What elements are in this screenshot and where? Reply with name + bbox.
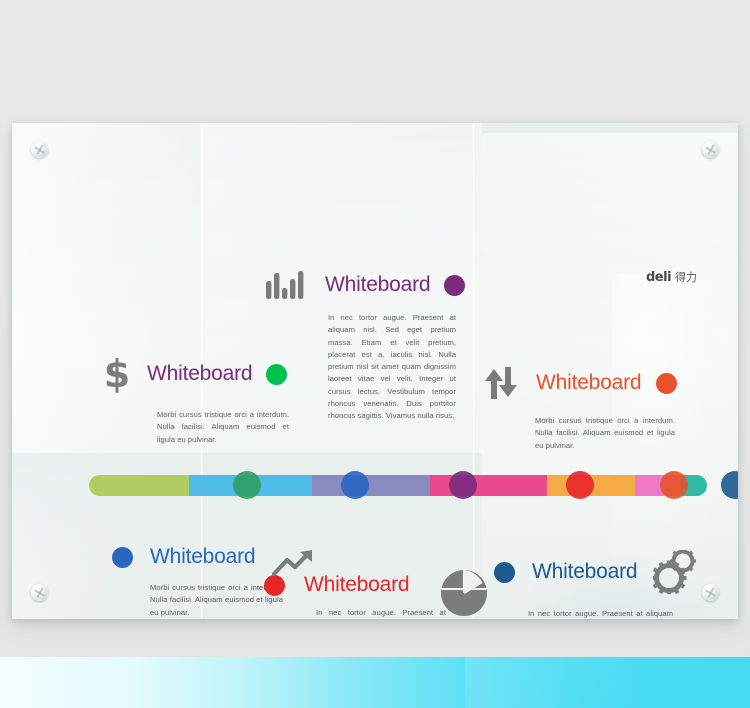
page-background: deli 得力 $ Whiteboard Morbi cursus tristi… xyxy=(0,0,750,708)
timeline-dot-5 xyxy=(721,471,738,499)
block-title: Whiteboard xyxy=(325,273,430,297)
block-bullet-dot xyxy=(112,547,133,568)
glass-whiteboard-panel: deli 得力 $ Whiteboard Morbi cursus tristi… xyxy=(12,123,738,619)
mounting-screw-top-left xyxy=(31,141,48,158)
svg-text:$: $ xyxy=(104,354,130,394)
block-bullet-dot xyxy=(494,562,515,583)
brand-logo: deli 得力 xyxy=(646,269,697,285)
brand-name-cjk: 得力 xyxy=(675,269,697,285)
timeline-dot-3 xyxy=(566,471,594,499)
dollar-sign-icon: $ xyxy=(97,352,137,396)
bottom-cyan-band xyxy=(0,657,750,708)
timeline-dot-4 xyxy=(660,471,688,499)
content-block-arrows: Whiteboard Morbi cursus tristique orci a… xyxy=(482,363,707,452)
block-bullet-dot xyxy=(656,373,677,394)
timeline-segment-0 xyxy=(89,475,189,496)
timeline-bar xyxy=(89,475,707,496)
block-bullet-dot xyxy=(444,275,465,296)
block-title: Whiteboard xyxy=(147,362,252,386)
timeline-dot-1 xyxy=(341,471,369,499)
mounting-screw-bottom-left xyxy=(31,584,48,601)
content-block-gears: Whiteboard xyxy=(520,548,720,619)
up-down-arrows-icon xyxy=(482,363,522,403)
block-body-text: In nec tortor augue. Praesent at aliquam… xyxy=(316,607,446,619)
bar-chart-icon xyxy=(262,268,306,302)
pie-chart-icon xyxy=(436,565,492,619)
block-title: Whiteboard xyxy=(536,371,641,395)
mounting-screw-top-right xyxy=(702,141,719,158)
block-body-text: In nec tortor augue. Praesent at aliquam… xyxy=(528,608,673,619)
timeline-dot-0 xyxy=(233,471,261,499)
trending-up-icon xyxy=(270,543,318,583)
brand-name-latin: deli xyxy=(646,270,671,285)
timeline-dot-2 xyxy=(449,471,477,499)
content-block-chart: Whiteboard In nec tortor augue. Praesent… xyxy=(262,268,477,423)
block-body-text: Morbi cursus tristique orci a interdum. … xyxy=(535,415,675,452)
block-title: Whiteboard xyxy=(532,560,637,584)
block-header: Whiteboard xyxy=(482,363,707,403)
timeline-segment-2 xyxy=(312,475,430,496)
block-header: Whiteboard xyxy=(262,268,477,302)
block-body-text: In nec tortor augue. Praesent at aliquam… xyxy=(328,312,456,423)
block-title: Whiteboard xyxy=(150,545,255,569)
gears-icon xyxy=(651,548,703,596)
timeline-segment-3 xyxy=(430,475,547,496)
block-title: Whiteboard xyxy=(304,573,409,597)
block-header: Whiteboard xyxy=(520,548,720,596)
